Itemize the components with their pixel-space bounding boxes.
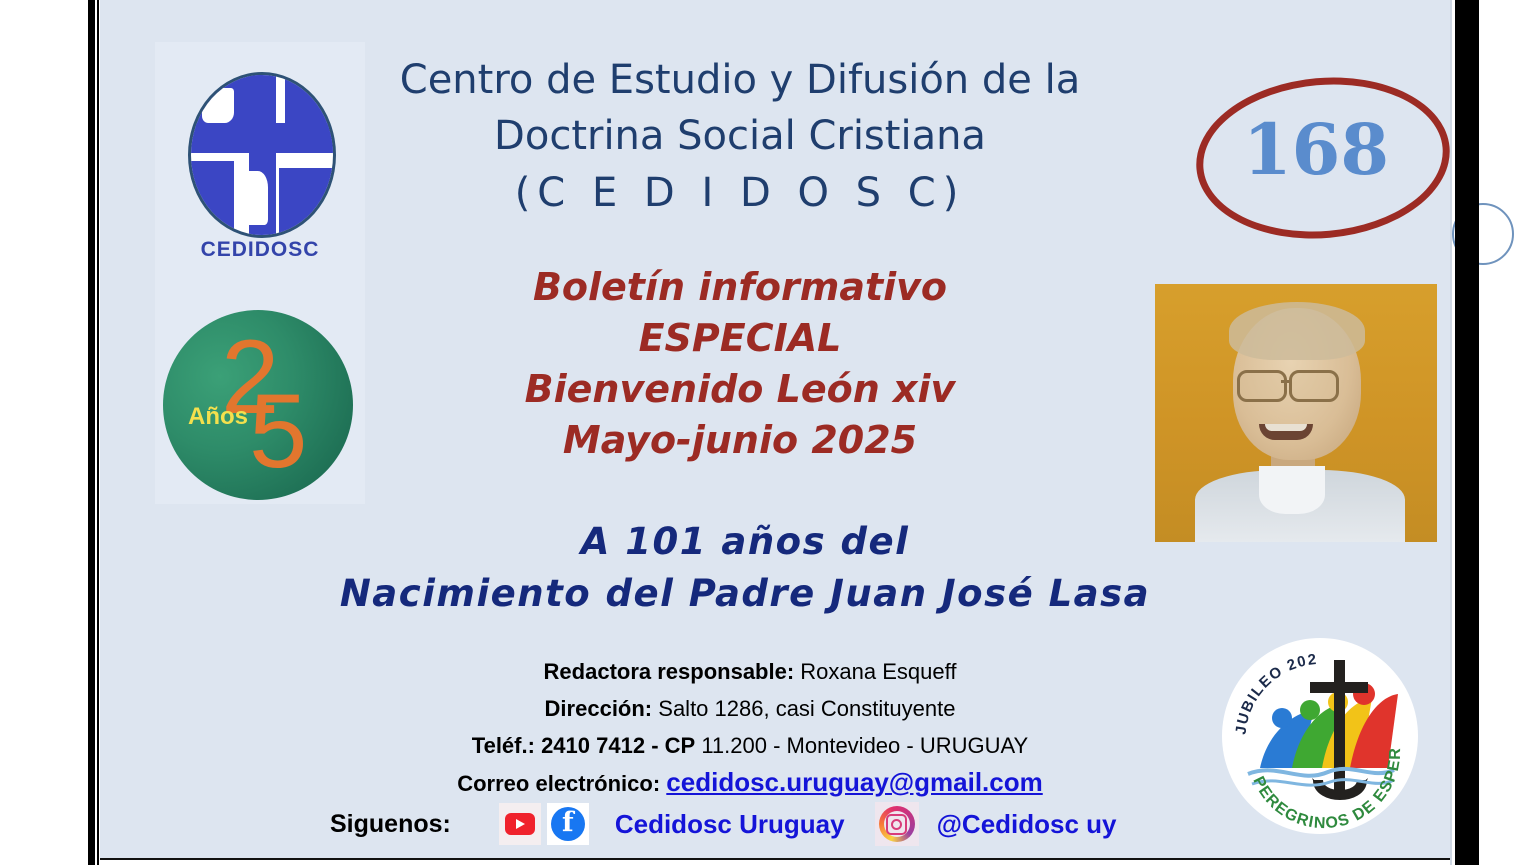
instagram-ring bbox=[879, 806, 915, 842]
jubileo-logo-svg: JUBILEO 2025 PEREGRINOS DE ESPERANZA bbox=[1222, 638, 1418, 834]
headline-line-2: Nacimiento del Padre Juan José Lasa bbox=[330, 568, 1160, 620]
photo-hair bbox=[1229, 302, 1365, 360]
youtube-play-triangle bbox=[516, 819, 525, 829]
priest-portrait-photo bbox=[1155, 284, 1437, 542]
instagram-icon[interactable] bbox=[875, 802, 919, 846]
address-value: Salto 1286, casi Constituyente bbox=[658, 696, 955, 721]
phone-label: Teléf.: bbox=[472, 733, 535, 758]
cp-label: CP bbox=[665, 733, 696, 758]
email-label: Correo electrónico: bbox=[457, 771, 660, 796]
right-page-border-line bbox=[1450, 0, 1452, 865]
instagram-camera-glyph bbox=[886, 814, 907, 835]
cp-value: 11.200 - Montevideo - URUGUAY bbox=[701, 733, 1028, 758]
follow-label: Siguenos: bbox=[330, 810, 451, 839]
youtube-icon[interactable] bbox=[499, 803, 541, 845]
facebook-page-name[interactable]: Cedidosc Uruguay bbox=[615, 809, 845, 840]
issue-number: 168 bbox=[1196, 108, 1436, 191]
photo-glasses-left bbox=[1237, 370, 1287, 402]
phone-separator: - bbox=[651, 733, 658, 758]
bulletin-line-1: Boletín informativo bbox=[390, 262, 1090, 313]
anniversary-number-bottom: 5 bbox=[249, 382, 307, 482]
photo-glasses-right bbox=[1289, 370, 1339, 402]
bulletin-line-3: Bienvenido León xiv bbox=[390, 364, 1090, 415]
anniversary-word: Años bbox=[188, 403, 248, 431]
cedidosc-logo-block: CEDIDOSC bbox=[176, 72, 344, 272]
phone-line: Teléf.: 2410 7412 - CP 11.200 - Montevid… bbox=[300, 727, 1200, 764]
youtube-glyph bbox=[505, 813, 535, 835]
photo-teeth bbox=[1265, 424, 1307, 431]
headline-line-1: A 101 años del bbox=[330, 516, 1160, 568]
instagram-inner bbox=[884, 811, 910, 837]
contact-information: Redactora responsable: Roxana Esqueff Di… bbox=[300, 653, 1200, 802]
social-media-row: Siguenos: f Cedidosc Uruguay @Cedidosc u… bbox=[330, 798, 1200, 850]
address-label: Dirección: bbox=[545, 696, 653, 721]
cedidosc-cross-map-icon bbox=[188, 72, 336, 238]
document-page-shell: CEDIDOSC 2 5 Años Centro de Estudio y Di… bbox=[0, 0, 1540, 865]
right-page-edge-bar bbox=[1455, 0, 1479, 865]
photo-collar bbox=[1259, 466, 1325, 514]
page-title: Centro de Estudio y Difusión de la Doctr… bbox=[380, 52, 1100, 222]
left-page-border-line bbox=[97, 0, 99, 865]
jubileo-2025-logo: JUBILEO 2025 PEREGRINOS DE ESPERANZA bbox=[1222, 638, 1418, 834]
main-headline: A 101 años del Nacimiento del Padre Juan… bbox=[330, 516, 1160, 620]
title-acronym: (C E D I D O S C) bbox=[380, 164, 1100, 222]
issue-number-badge: 168 bbox=[1196, 78, 1436, 224]
facebook-letter: f bbox=[562, 809, 574, 836]
instagram-lens bbox=[891, 819, 902, 830]
email-line: Correo electrónico: cedidosc.uruguay@gma… bbox=[300, 764, 1200, 802]
photo-glasses-bridge bbox=[1281, 380, 1291, 383]
phone-value: 2410 7412 bbox=[541, 733, 645, 758]
bulletin-line-4: Mayo-junio 2025 bbox=[390, 415, 1090, 466]
left-page-edge-bar bbox=[88, 0, 95, 865]
title-line-1: Centro de Estudio y Difusión de la bbox=[380, 52, 1100, 108]
facebook-glyph: f bbox=[551, 807, 585, 841]
editor-line: Redactora responsable: Roxana Esqueff bbox=[300, 653, 1200, 690]
editor-value: Roxana Esqueff bbox=[800, 659, 956, 684]
title-line-2: Doctrina Social Cristiana bbox=[380, 108, 1100, 164]
email-link[interactable]: cedidosc.uruguay@gmail.com bbox=[666, 767, 1042, 797]
facebook-icon[interactable]: f bbox=[547, 803, 589, 845]
anniversary-25-badge: 2 5 Años bbox=[163, 310, 353, 500]
editor-label: Redactora responsable: bbox=[544, 659, 795, 684]
cedidosc-logo-label: CEDIDOSC bbox=[176, 238, 344, 262]
bulletin-subtitle-block: Boletín informativo ESPECIAL Bienvenido … bbox=[390, 262, 1090, 466]
instagram-handle[interactable]: @Cedidosc uy bbox=[937, 809, 1117, 840]
bulletin-line-2: ESPECIAL bbox=[390, 313, 1090, 364]
address-line: Dirección: Salto 1286, casi Constituyent… bbox=[300, 690, 1200, 727]
